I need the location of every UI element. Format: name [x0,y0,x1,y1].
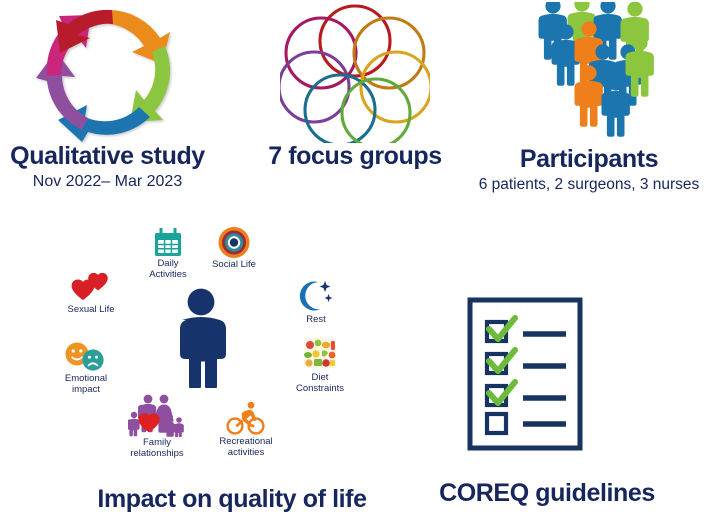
participants-title: Participants [470,146,708,172]
two-hearts-icon [70,272,112,304]
qol-label: Sexual Life [54,305,128,316]
qol-label: Social Life [203,260,265,271]
calendar-icon [152,228,184,258]
qol-item-family-relationships: Family relationships [115,393,199,459]
qol-item-sexual-life: Sexual Life [54,272,128,316]
qol-item-emotional-impact: Emotional impact [47,341,125,395]
circular-arrow-cycle-icon [28,4,188,149]
coreq-guidelines-title: COREQ guidelines [402,480,692,506]
qol-item-recreational-activities: Recreational activities [204,400,288,458]
qol-center-person [170,288,232,388]
qol-item-social-life: Social Life [203,226,265,271]
checklist-document-icon [460,295,590,460]
food-collage-icon [300,336,340,372]
crescent-moon-stars-icon [295,280,337,314]
crowd-of-people-icon [525,2,655,147]
focus-groups-title: 7 focus groups [245,143,465,169]
infographic-canvas: Qualitative study Nov 2022– Mar 2023 [0,0,708,518]
panel-focus-groups: 7 focus groups [245,0,465,200]
quality-of-life-title: Impact on quality of life [42,486,422,512]
qol-item-daily-activities: Daily Activities [137,228,199,280]
qol-label: Rest [285,315,347,326]
seven-overlapping-rings-icon [280,3,430,148]
qol-item-diet-constraints: Diet Constraints [282,336,358,394]
panel-participants: Participants 6 patients, 2 surgeons, 3 n… [470,0,708,205]
qol-item-rest: Rest [285,280,347,326]
target-rings-icon [216,226,252,259]
qol-label: Emotional impact [47,374,125,395]
panel-quality-of-life: Daily Activities Social Life Sexual Life [40,228,380,518]
qol-label: Recreational activities [204,437,288,458]
cyclist-icon [226,400,266,436]
qualitative-study-title: Qualitative study [0,143,215,169]
person-figure-icon [170,288,232,388]
qol-label: Daily Activities [137,259,199,280]
family-group-icon [128,393,186,437]
panel-qualitative-study: Qualitative study Nov 2022– Mar 2023 [0,0,236,200]
qol-label: Diet Constraints [282,373,358,394]
participants-subtitle: 6 patients, 2 surgeons, 3 nurses [466,176,708,193]
qualitative-study-subtitle: Nov 2022– Mar 2023 [0,173,215,191]
smiley-frowny-faces-icon [62,341,110,373]
qol-label: Family relationships [115,438,199,459]
